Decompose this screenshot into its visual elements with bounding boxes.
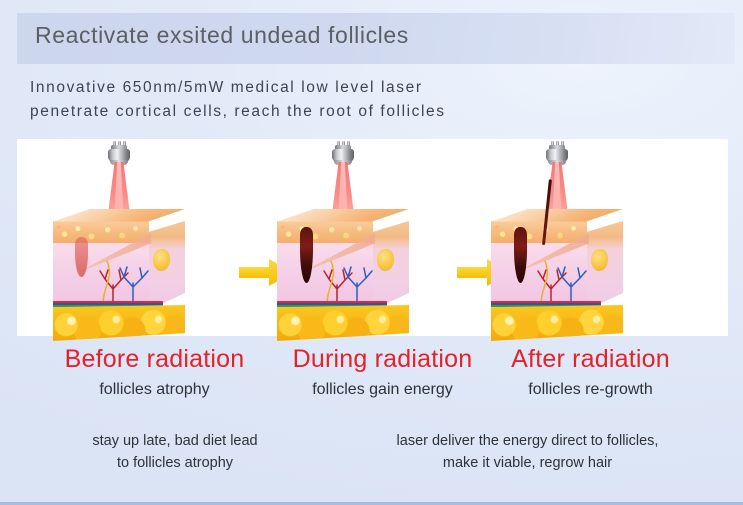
caption-before: Before radiation follicles atrophy bbox=[22, 344, 287, 400]
note-right: laser deliver the energy direct to folli… bbox=[330, 430, 725, 474]
epidermis-cells bbox=[53, 221, 149, 243]
note-right-line-1: laser deliver the energy direct to folli… bbox=[330, 430, 725, 452]
capillary-tree-icon bbox=[531, 255, 591, 305]
laser-diode-icon bbox=[330, 141, 356, 165]
page-title: Reactivate exsited undead follicles bbox=[35, 22, 409, 49]
note-left-line-1: stay up late, bad diet lead bbox=[30, 430, 320, 452]
note-left: stay up late, bad diet lead to follicles… bbox=[30, 430, 320, 474]
fat-highlights bbox=[53, 305, 185, 341]
caption-title: Before radiation bbox=[22, 344, 287, 374]
caption-title: After radiation bbox=[458, 344, 723, 374]
note-left-line-2: to follicles atrophy bbox=[30, 452, 320, 474]
illustration-panel bbox=[17, 139, 728, 336]
infographic-page: Reactivate exsited undead follicles Inno… bbox=[0, 0, 743, 505]
epidermis-cells bbox=[277, 221, 373, 243]
stage-illustration-before bbox=[39, 139, 199, 336]
laser-diode-icon bbox=[544, 141, 570, 165]
epidermis-cells bbox=[491, 221, 587, 243]
title-banner: Reactivate exsited undead follicles bbox=[17, 13, 735, 64]
stage-illustration-during bbox=[263, 139, 423, 336]
intro-line-2: penetrate cortical cells, reach the root… bbox=[30, 100, 630, 124]
skin-cross-section-before bbox=[53, 209, 185, 329]
skin-cross-section-during bbox=[277, 209, 409, 329]
laser-diode-icon bbox=[106, 141, 132, 165]
note-right-line-2: make it viable, regrow hair bbox=[330, 452, 725, 474]
fat-highlights bbox=[277, 305, 409, 341]
skin-cross-section-after bbox=[491, 209, 623, 329]
intro-line-1: Innovative 650nm/5mW medical low level l… bbox=[30, 76, 630, 100]
caption-after: After radiation follicles re-growth bbox=[458, 344, 723, 400]
caption-subtitle: follicles re-growth bbox=[458, 380, 723, 400]
stage-illustration-after bbox=[477, 139, 637, 336]
capillary-tree-icon bbox=[93, 255, 153, 305]
fat-highlights bbox=[491, 305, 623, 341]
capillary-tree-icon bbox=[317, 255, 377, 305]
intro-paragraph: Innovative 650nm/5mW medical low level l… bbox=[30, 76, 630, 124]
caption-subtitle: follicles atrophy bbox=[22, 380, 287, 400]
